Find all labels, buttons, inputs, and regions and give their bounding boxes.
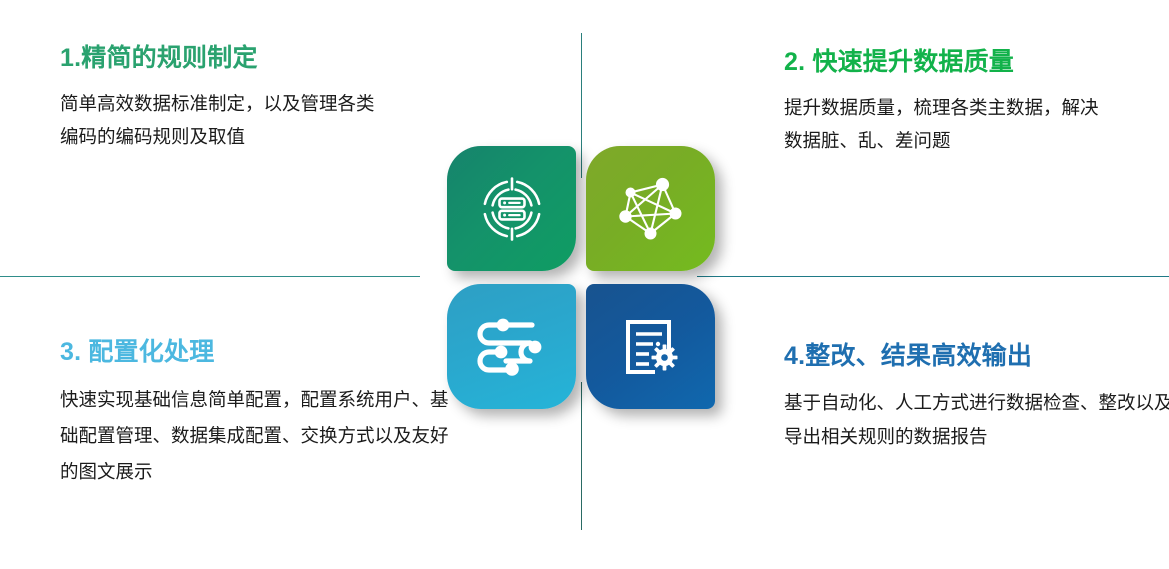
quadrant-4-title: 4.整改、结果高效输出: [784, 336, 1169, 372]
target-database-icon: [479, 176, 545, 242]
quadrant-configuration: 3. 配置化处理 快速实现基础信息简单配置，配置系统用户、基础配置管理、数据集成…: [60, 332, 450, 490]
quadrant-2-title: 2. 快速提升数据质量: [784, 42, 1114, 78]
document-gear-icon: [619, 315, 683, 379]
route-flow-icon: [476, 317, 548, 377]
quadrant-2-body: 提升数据质量，梳理各类主数据，解决数据脏、乱、差问题: [784, 92, 1114, 158]
quadrant-data-quality: 2. 快速提升数据质量 提升数据质量，梳理各类主数据，解决数据脏、乱、差问题: [784, 42, 1114, 158]
tile-output-report[interactable]: [586, 284, 715, 409]
divider-horizontal-right: [697, 276, 1169, 277]
quadrant-3-body: 快速实现基础信息简单配置，配置系统用户、基础配置管理、数据集成配置、交换方式以及…: [60, 382, 450, 490]
quadrant-1-title: 1.精简的规则制定: [60, 38, 390, 74]
quadrant-1-body: 简单高效数据标准制定，以及管理各类编码的编码规则及取值: [60, 88, 390, 154]
divider-horizontal-left: [0, 276, 420, 277]
quadrant-3-title: 3. 配置化处理: [60, 332, 450, 368]
quadrant-output: 4.整改、结果高效输出 基于自动化、人工方式进行数据检查、整改以及导出相关规则的…: [784, 336, 1169, 453]
tile-rule-definition[interactable]: [447, 146, 576, 271]
network-graph-icon: [617, 176, 685, 242]
tile-data-quality[interactable]: [586, 146, 715, 271]
tile-configuration[interactable]: [447, 284, 576, 409]
center-icon-cluster: [447, 146, 715, 409]
quadrant-4-body: 基于自动化、人工方式进行数据检查、整改以及导出相关规则的数据报告: [784, 386, 1169, 453]
quadrant-rule-definition: 1.精简的规则制定 简单高效数据标准制定，以及管理各类编码的编码规则及取值: [60, 38, 390, 154]
